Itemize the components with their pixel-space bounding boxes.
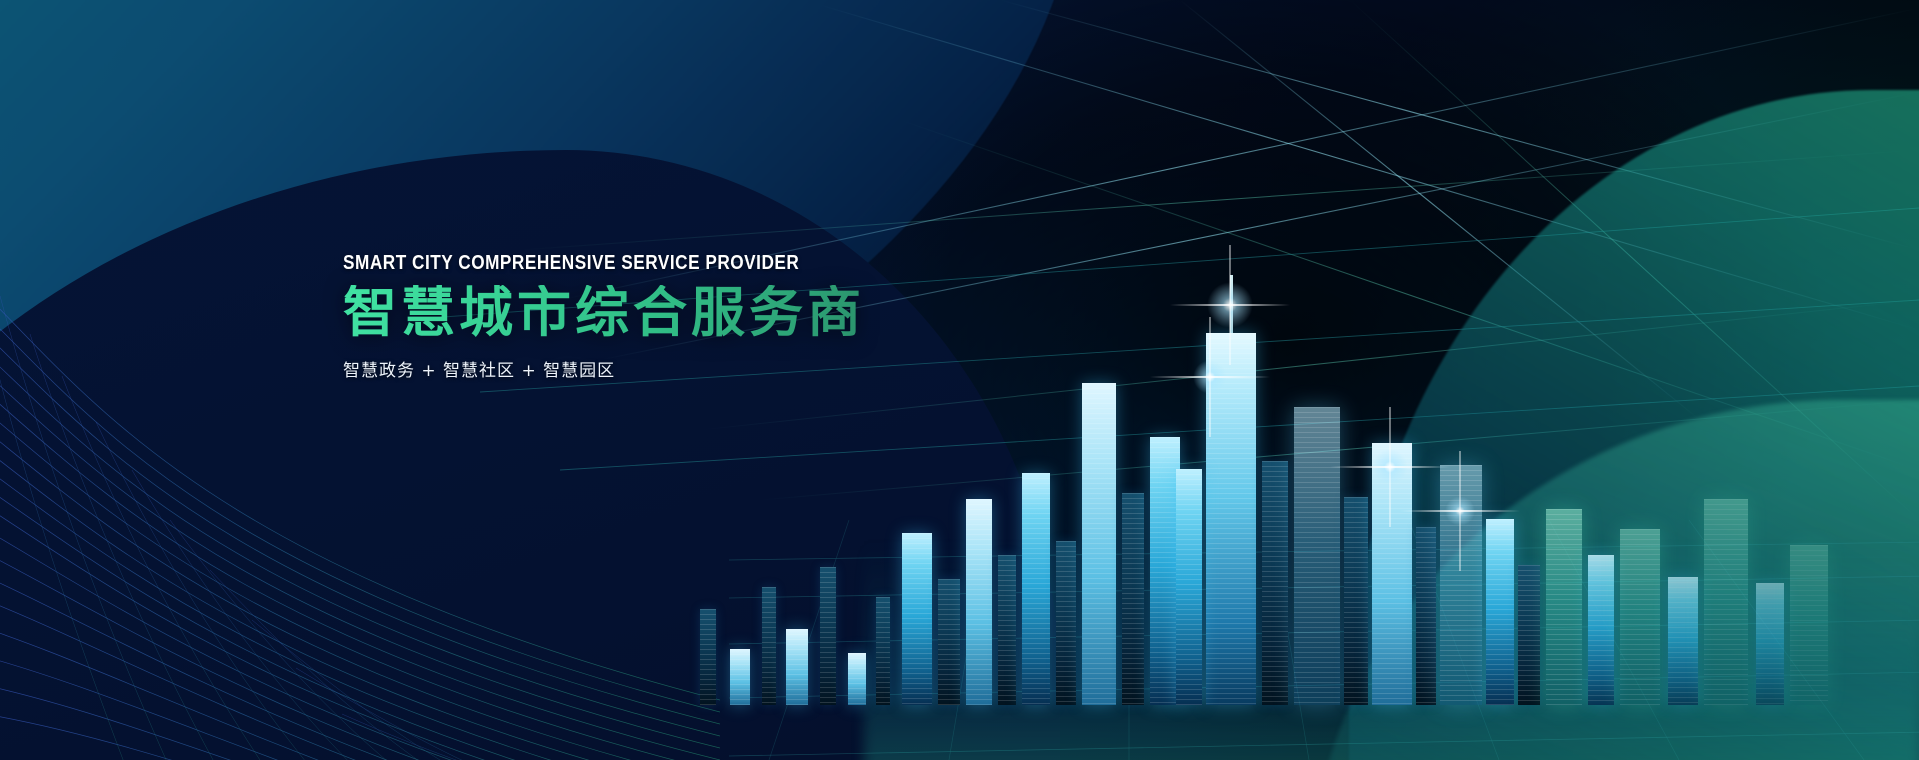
hero-tagline-english: SMART CITY COMPREHENSIVE SERVICE PROVIDE… (343, 252, 799, 275)
smart-city-hero-banner: SMART CITY COMPREHENSIVE SERVICE PROVIDE… (0, 0, 1919, 760)
hero-subtitle-chinese: 智慧政务 + 智慧社区 + 智慧园区 (343, 356, 874, 381)
city-skyline-illustration (690, 145, 1870, 705)
hero-headline-chinese: 智慧城市综合服务商 (343, 285, 874, 342)
hero-text-block: SMART CITY COMPREHENSIVE SERVICE PROVIDE… (343, 252, 874, 381)
